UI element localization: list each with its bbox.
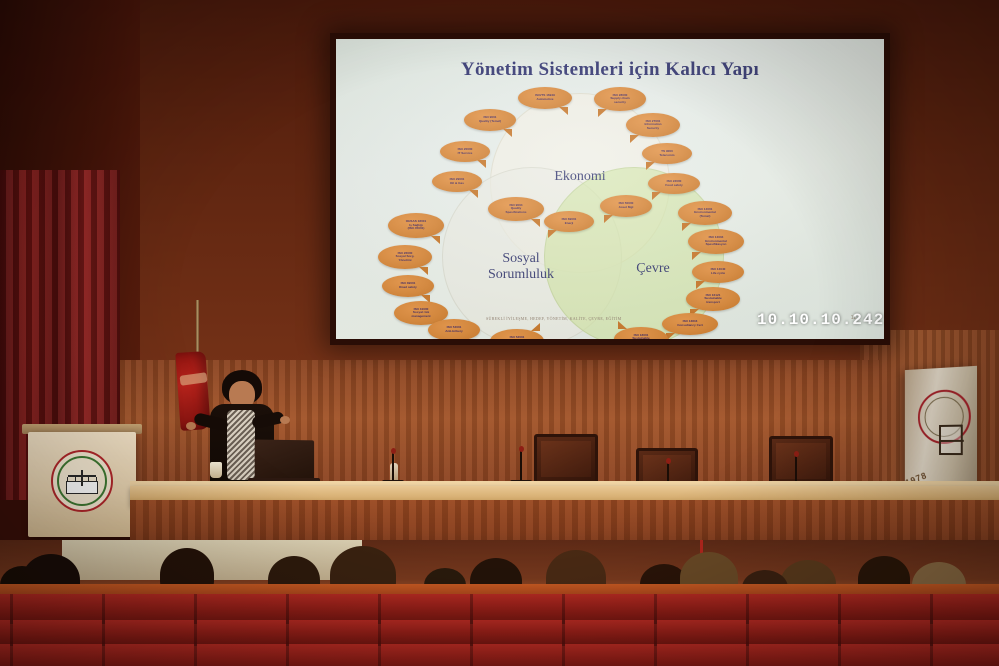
standard-bubble-iso-27001: ISO 27001 Information Security [626, 113, 680, 137]
standard-bubble-iso-16121: ISO 16121 Sustainable transport [686, 287, 740, 311]
seat-divider [562, 620, 565, 646]
bar-association-logo-icon [51, 450, 113, 512]
microphone-head-2 [519, 446, 524, 452]
seat-divider [562, 644, 565, 666]
standard-bubble-iso-14004: ISO 14004 Environmental Spesifikasyon [688, 229, 744, 254]
standard-bubble-iso-28000: ISO 28000 Supply chain security [594, 87, 646, 111]
speaker-podium [28, 432, 136, 537]
scales-mast [81, 470, 83, 486]
seat-divider [930, 620, 933, 646]
standard-bubble-iso-ts-16949: ISO/TS 16949 Automotive [518, 87, 572, 109]
projector-ip-overlay: 10.10.10.242 [757, 311, 884, 329]
banner-book-shape [939, 425, 963, 455]
standard-bubble-iso-22000: ISO 22000 Food safety [648, 173, 700, 194]
seat-row-2 [0, 620, 999, 646]
venn-label-social: Sosyal Sorumluluk [456, 251, 586, 282]
standard-bubble-iso-54001: ISO 54001 Anti-bribery [428, 319, 480, 339]
presenter-laptop [255, 440, 314, 483]
seat-divider [654, 644, 657, 666]
seat-divider [654, 620, 657, 646]
standard-bubble-iso-50000: ISO 50000 Asset Mgt [600, 195, 652, 217]
venn-label-environment: Çevre [598, 261, 708, 277]
seat-divider [10, 620, 13, 646]
panel-monitor-3 [769, 436, 833, 486]
standard-bubble-iso-14040: ISO 14040 Life cycle [692, 261, 744, 283]
seat-divider [286, 620, 289, 646]
standard-bubble-ts-9000: TS 9000 Telecomm [642, 143, 692, 164]
seat-divider [746, 644, 749, 666]
seat-row-3 [0, 644, 999, 666]
standard-bubble-iso-9001: ISO 9001 Quality (Temel) [464, 109, 516, 131]
standard-bubble-iso-14001: ISO 14001 Environmental (Temel) [678, 201, 732, 225]
presenter-left-hand [186, 422, 196, 430]
seat-divider [102, 620, 105, 646]
standard-bubble-iso-69001: ISO 69001 Enerji [544, 211, 594, 232]
panel-monitor-1 [534, 434, 598, 484]
seat-divider [194, 620, 197, 646]
presenter-shirt [227, 410, 255, 480]
standard-bubble-iso-9004: ISO 9004 Quality Spesifications [488, 197, 544, 221]
microphone-stem-4 [795, 455, 797, 483]
standard-bubble-iso-20000: ISO 20000 IT Service [440, 141, 490, 162]
logo-inner-ring [57, 456, 107, 506]
seat-divider [838, 620, 841, 646]
seat-divider [746, 620, 749, 646]
microphone-head-1 [391, 448, 396, 454]
conference-hall-scene: Yönetim Sistemleri için Kalıcı Yapı Ekon… [0, 0, 999, 666]
audience-area [0, 540, 999, 666]
scales-pan-left [67, 477, 76, 482]
water-cup [210, 462, 222, 478]
microphone-stem-1 [392, 452, 394, 480]
venn-diagram: Ekonomi Sosyal Sorumluluk Çevre ISO/TS 1… [336, 39, 884, 339]
presenter-right-hand [280, 416, 290, 424]
microphone-head-4 [794, 451, 799, 457]
scales-pan-right [88, 477, 97, 482]
microphone-head-3 [666, 458, 671, 464]
venn-label-economy: Ekonomi [520, 169, 640, 185]
seat-divider [378, 620, 381, 646]
standard-bubble-iso-26000: ISO 26000 Sosyal Sorg. Yönetimi [378, 245, 432, 269]
seat-divider [930, 644, 933, 666]
seat-divider [470, 644, 473, 666]
seat-divider [838, 644, 841, 666]
standard-bubble-ohsas-18001: OHSAS 18001 Iş Sağlığı (ISO 45001) [388, 213, 444, 238]
standard-bubble-iso-39001: ISO 39001 Road safety [382, 275, 434, 297]
scales-of-justice-icon [66, 468, 98, 494]
banner-logo-icon [918, 389, 971, 444]
seat-divider [470, 620, 473, 646]
seat-divider [378, 644, 381, 666]
standard-bubble-iso-29001: ISO 29001 Oil & Gas [432, 171, 482, 192]
seat-divider [10, 644, 13, 666]
projection-screen: Yönetim Sistemleri için Kalıcı Yapı Ekon… [336, 39, 884, 339]
seat-divider [194, 644, 197, 666]
seat-divider [102, 644, 105, 666]
slide-footer-text: SÜREKLİ İYİLEŞME, HEDEF, YÖNETİM, KALİTE… [486, 316, 736, 321]
microphone-stem-2 [520, 450, 522, 480]
seat-divider [286, 644, 289, 666]
